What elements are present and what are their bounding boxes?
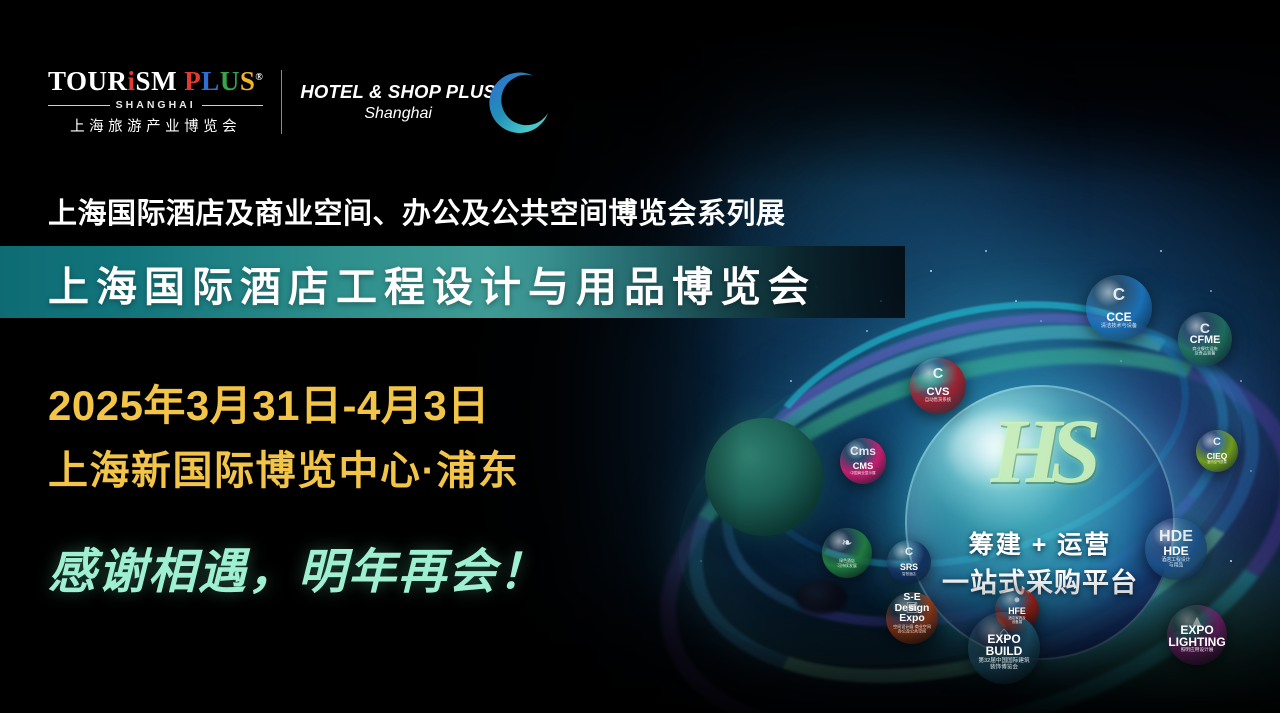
satellite-badge: HDEHDE酒店工程设计 与用品 bbox=[1145, 518, 1207, 580]
badge-content: CMS中国商业显示展 bbox=[840, 462, 886, 484]
satellite-badge: CCIEQ室内空气质量 bbox=[1196, 430, 1238, 472]
badge-subtitle: 清洁技术与设备 bbox=[1089, 323, 1150, 329]
badge-content: HDE酒店工程设计 与用品 bbox=[1145, 545, 1207, 580]
badge-mark-icon: Cms bbox=[840, 444, 886, 458]
satellite-badge: ▣S-E Design Expo空间设计展·商业空间 办公及公共空间 bbox=[886, 592, 938, 644]
badge-code: EXPO LIGHTING bbox=[1167, 624, 1227, 648]
badge-content: CIEQ室内空气质量 bbox=[1196, 452, 1238, 472]
badge-subtitle: 照明应用设计展 bbox=[1169, 649, 1224, 654]
event-venue: 上海新国际博览中心·浦东 bbox=[48, 438, 519, 496]
series-subtitle: 上海国际酒店及商业空间、办公及公共空间博览会系列展 bbox=[48, 190, 786, 232]
badge-code: HFE bbox=[995, 607, 1039, 616]
hs-monogram: HS bbox=[905, 405, 1175, 497]
badge-code: CIEQ bbox=[1196, 452, 1238, 460]
c-swoosh-icon bbox=[472, 63, 556, 147]
badge-code: CVS bbox=[910, 387, 966, 398]
badge-subtitle: 自动售货系统 bbox=[912, 399, 964, 404]
rule-right bbox=[202, 105, 264, 106]
sphere-tagline-1: 筹建 + 运营 bbox=[905, 525, 1175, 561]
tourism-plus-wordmark: TOURiSM PLUS® bbox=[48, 68, 263, 95]
tourism-plus-logo: TOURiSM PLUS® SHANGHAI 上海旅游产业博览会 bbox=[48, 68, 263, 136]
badge-code: CFME bbox=[1178, 335, 1232, 346]
badge-content: HFE酒店家具及 设备展 bbox=[995, 607, 1039, 632]
badge-subtitle: 酒店家具及 设备展 bbox=[997, 616, 1037, 624]
hotel-shop-plus-city: Shanghai bbox=[300, 105, 496, 123]
badge-content: SRS智慧酒店 bbox=[887, 563, 931, 584]
badge-content: EXPO BUILD第32届中国国际建筑 装饰博览会 bbox=[968, 633, 1040, 684]
badge-content: CFME商业餐饮设施 及食品装备 bbox=[1178, 335, 1232, 366]
satellite-badge: CmsCMS中国商业显示展 bbox=[840, 438, 886, 484]
logo-lockup: TOURiSM PLUS® SHANGHAI 上海旅游产业博览会 HOTEL &… bbox=[48, 68, 554, 136]
badge-content: 绿色酒店 可持续发展 bbox=[822, 559, 872, 578]
badge-mark-icon: C bbox=[887, 546, 931, 558]
badge-subtitle: 第32届中国国际建筑 装饰博览会 bbox=[971, 658, 1037, 671]
hotel-shop-plus-title: HOTEL & SHOP PLUS bbox=[300, 81, 496, 103]
satellite-badge: CCCE清洁技术与设备 bbox=[1086, 275, 1152, 341]
badge-content: CVS自动售货系统 bbox=[910, 387, 966, 414]
rule-left bbox=[48, 105, 110, 106]
badge-mark-icon: ❧ bbox=[822, 535, 872, 551]
badge-mark-icon: C bbox=[1196, 436, 1238, 448]
badge-mark-icon: HDE bbox=[1145, 527, 1207, 546]
badge-subtitle: 室内空气质量 bbox=[1198, 461, 1237, 465]
badge-subtitle: 酒店工程设计 与用品 bbox=[1147, 557, 1204, 568]
badge-code: SRS bbox=[887, 563, 931, 572]
badge-mark-icon: C bbox=[910, 366, 966, 382]
badge-subtitle: 商业餐饮设施 及食品装备 bbox=[1180, 346, 1230, 356]
logo-divider bbox=[281, 70, 282, 134]
poster-canvas: HS 筹建 + 运营 一站式采购平台 CCCE清洁技术与设备CCFME商业餐饮设… bbox=[0, 0, 1280, 713]
badge-code: EXPO BUILD bbox=[968, 633, 1040, 657]
badge-subtitle: 中国商业显示展 bbox=[842, 471, 884, 475]
event-date: 2025年3月31日-4月3日 bbox=[48, 372, 490, 433]
hotel-shop-plus-logo: HOTEL & SHOP PLUS Shanghai bbox=[300, 81, 554, 123]
closing-message: 感谢相遇，明年再会！ bbox=[48, 532, 548, 602]
satellite-badge: ❧绿色酒店 可持续发展 bbox=[822, 528, 872, 578]
badge-code: CCE bbox=[1086, 311, 1152, 323]
badge-subtitle: 智慧酒店 bbox=[889, 572, 929, 576]
satellite-badge: CCVS自动售货系统 bbox=[910, 358, 966, 414]
badge-content: S-E Design Expo空间设计展·商业空间 办公及公共空间 bbox=[886, 593, 938, 644]
badge-subtitle: 绿色酒店 可持续发展 bbox=[824, 560, 870, 569]
tourism-plus-name-cn: 上海旅游产业博览会 bbox=[70, 115, 241, 136]
registered-mark: ® bbox=[255, 72, 263, 83]
tourism-plus-city: SHANGHAI bbox=[116, 99, 196, 111]
main-title: 上海国际酒店工程设计与用品博览会 bbox=[48, 253, 816, 313]
badge-code: S-E Design Expo bbox=[886, 593, 938, 624]
badge-mark-icon: C bbox=[1086, 284, 1152, 305]
satellite-badge: CSRS智慧酒店 bbox=[887, 540, 931, 584]
badge-code: HDE bbox=[1145, 545, 1207, 557]
badge-content: CCE清洁技术与设备 bbox=[1086, 311, 1152, 341]
badge-content: EXPO LIGHTING照明应用设计展 bbox=[1167, 624, 1227, 665]
satellite-badge: CCFME商业餐饮设施 及食品装备 bbox=[1178, 312, 1232, 366]
badge-subtitle: 空间设计展·商业空间 办公及公共空间 bbox=[888, 625, 936, 634]
tourism-plus-rule: SHANGHAI bbox=[48, 99, 263, 111]
